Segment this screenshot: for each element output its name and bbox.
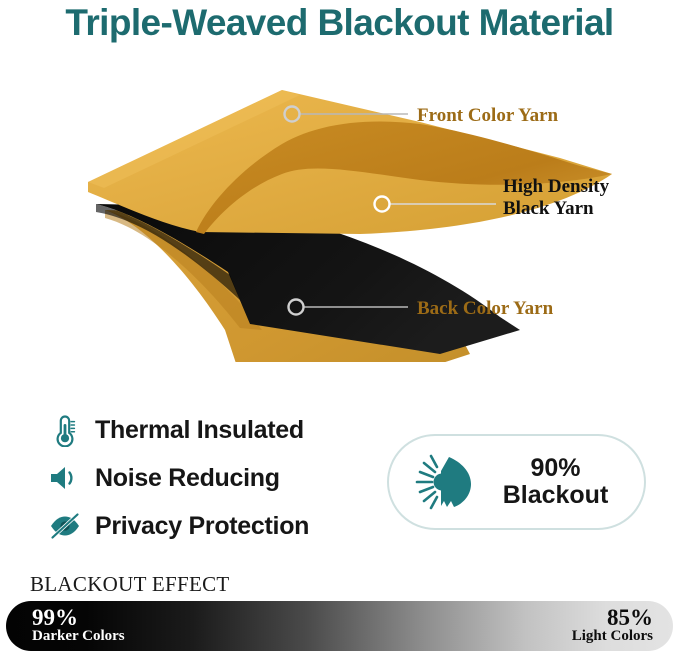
blackout-stat-light-description: Light Colors	[572, 629, 653, 645]
diagram-label-black-yarn-line1: High Density	[503, 176, 609, 197]
blackout-stat-darker-description: Darker Colors	[32, 629, 125, 645]
diagram-label-front-color-yarn: Front Color Yarn	[417, 105, 558, 127]
page-title: Triple-Weaved Blackout Material	[0, 2, 679, 44]
blackout-badge-word: Blackout	[479, 482, 632, 510]
diagram-label-high-density-black-yarn: High Density Black Yarn	[503, 176, 609, 221]
diagram-label-back-color-yarn: Back Color Yarn	[417, 298, 553, 320]
blackout-stat-light-percent: 85%	[572, 606, 653, 630]
blackout-effect-gradient-bar: 99% Darker Colors 85% Light Colors	[6, 601, 673, 651]
feature-row-privacy-protection: Privacy Protection	[44, 504, 374, 548]
eye-slash-icon	[44, 511, 86, 541]
sun-blocked-curtain-icon	[411, 451, 479, 513]
diagram-label-black-yarn-line2: Black Yarn	[503, 198, 594, 219]
speaker-sound-icon	[44, 463, 86, 493]
blackout-stat-darker-percent: 99%	[32, 606, 125, 630]
blackout-badge-text: 90% Blackout	[479, 455, 644, 510]
feature-list: Thermal Insulated Noise Reducing Privacy…	[44, 408, 374, 552]
thermometer-icon	[44, 413, 86, 447]
blackout-effect-heading: BLACKOUT EFFECT	[30, 572, 230, 597]
blackout-stat-darker-colors: 99% Darker Colors	[32, 606, 125, 645]
feature-label-noise-reducing: Noise Reducing	[95, 464, 280, 493]
feature-label-thermal-insulated: Thermal Insulated	[95, 416, 304, 445]
fabric-layers-diagram: Front Color Yarn High Density Black Yarn…	[0, 62, 679, 362]
feature-label-privacy-protection: Privacy Protection	[95, 512, 309, 541]
blackout-stat-light-colors: 85% Light Colors	[572, 606, 653, 645]
blackout-badge: 90% Blackout	[387, 434, 646, 530]
feature-row-noise-reducing: Noise Reducing	[44, 456, 374, 500]
feature-row-thermal-insulated: Thermal Insulated	[44, 408, 374, 452]
blackout-badge-percent: 90%	[479, 455, 632, 483]
